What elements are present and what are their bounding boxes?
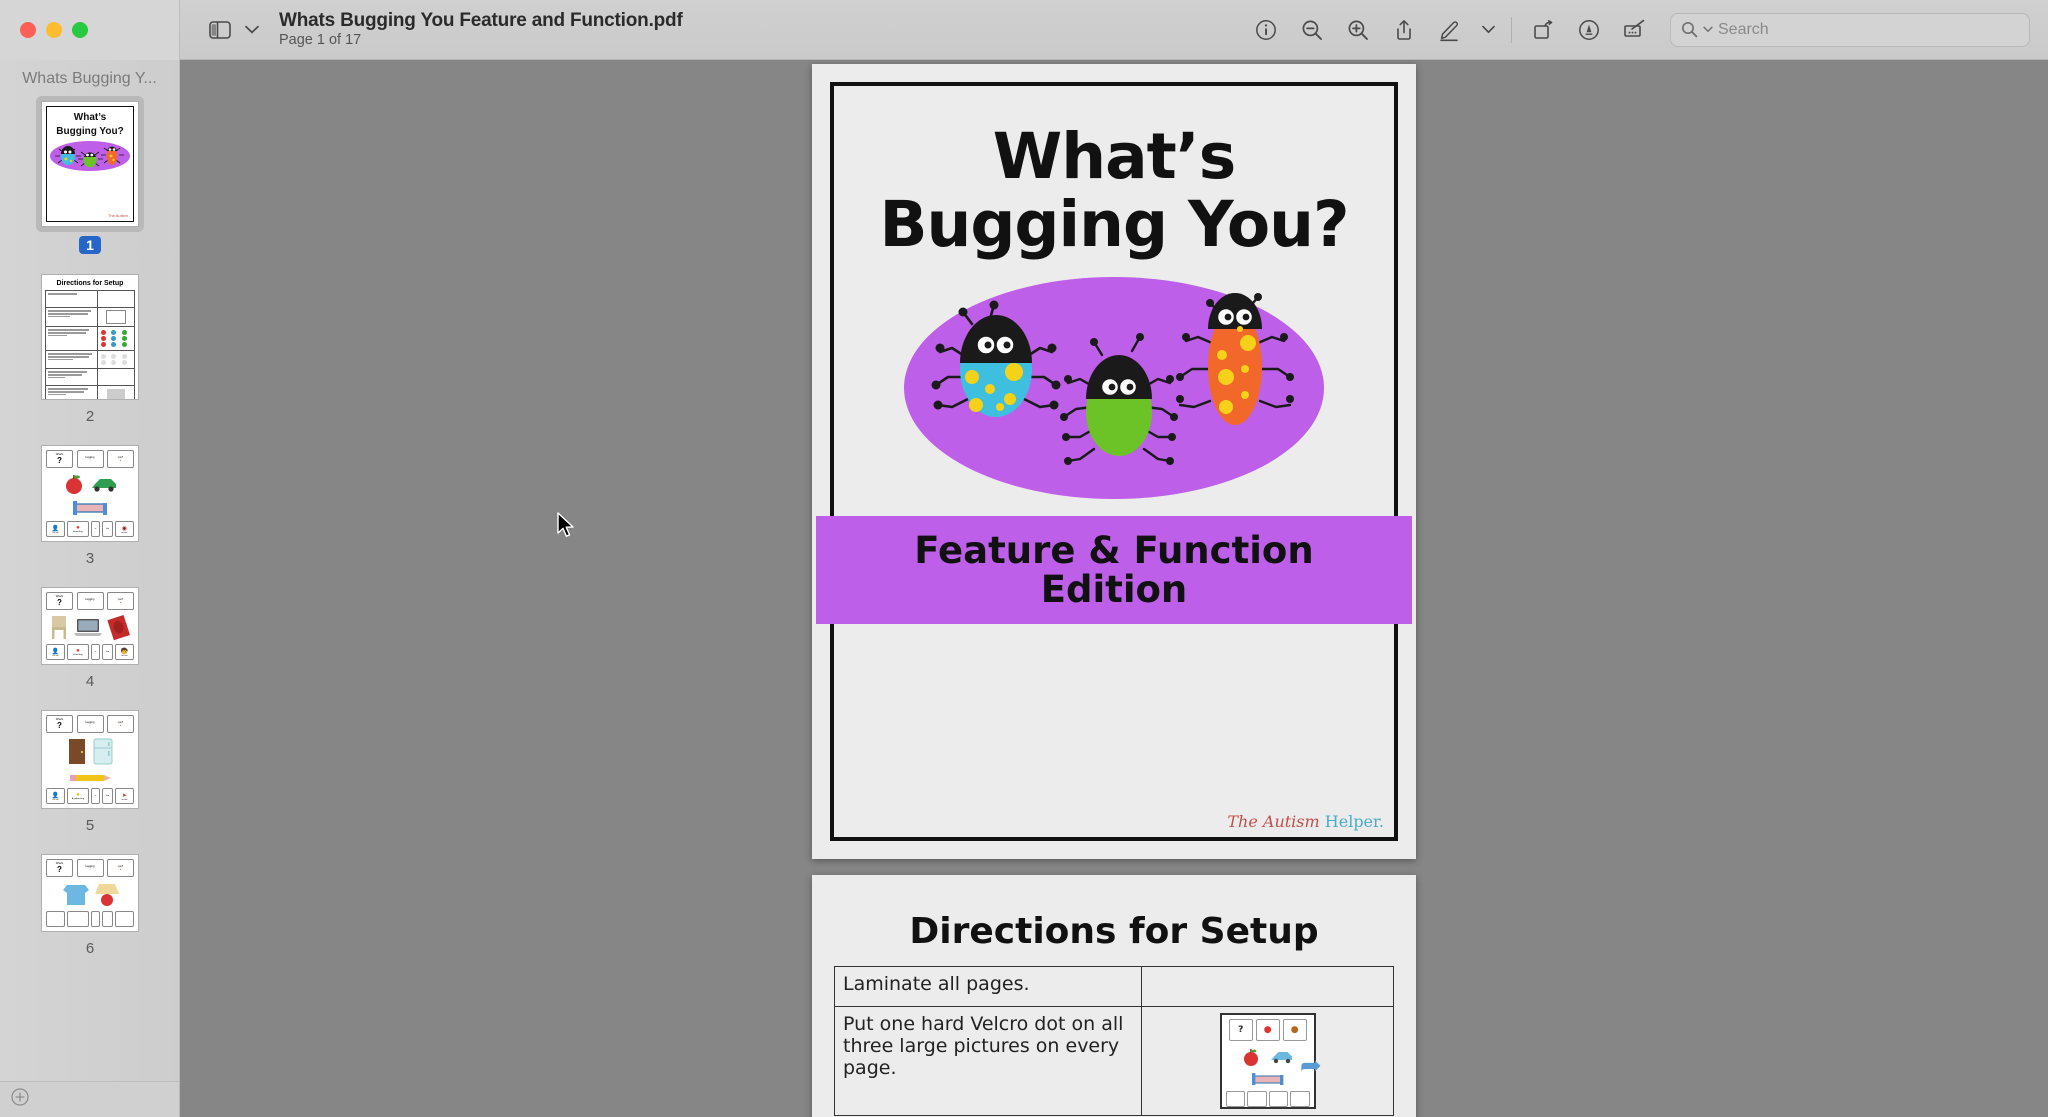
banner-line2: Edition <box>914 570 1313 609</box>
page-status: Page 1 of 17 <box>279 33 683 49</box>
pdf-page-2[interactable]: Directions for Setup Laminate all pages.… <box>812 875 1416 1117</box>
page-number: 2 <box>86 408 94 425</box>
thumbnail-list[interactable]: What’s Bugging You? <box>0 96 180 1081</box>
thumbnail-page-5[interactable]: What's? bugging• you?● 👤Oh no! ●A yellow… <box>36 705 144 843</box>
thumbnail-selection-highlight: What’s Bugging You? <box>36 96 144 232</box>
thumbnail-page-6[interactable]: What's? bugging• you?● 6 <box>36 849 144 966</box>
table-row: Laminate all pages. <box>835 967 1394 1007</box>
toolbar-divider <box>1511 17 1512 43</box>
share-icon[interactable] <box>1381 10 1427 50</box>
cover-title-line2: Bugging You? <box>834 194 1394 256</box>
thumbnail-sidebar[interactable]: Whats Bugging Y... What’s Bugging You? <box>0 60 180 1117</box>
markup-icon[interactable] <box>1427 10 1473 50</box>
banner-line1: Feature & Function <box>914 531 1313 570</box>
orange-bug <box>1176 293 1294 425</box>
thumb-title: Directions for Setup <box>45 280 135 287</box>
annotate-icon[interactable] <box>1566 10 1612 50</box>
thumb-title-2: Bugging You? <box>50 127 130 138</box>
edition-banner: Feature & Function Edition <box>816 516 1412 624</box>
sign-icon[interactable] <box>1612 10 1658 50</box>
zoom-in-icon[interactable] <box>1335 10 1381 50</box>
view-menu-chevron-down-icon[interactable] <box>245 22 259 37</box>
thumbnail-image: What's? bugging• you?● 👤Oh no! ●A red bu… <box>41 445 139 542</box>
logo-part-2: Helper. <box>1320 812 1384 831</box>
title-bar: Whats Bugging You Feature and Function.p… <box>0 0 2048 60</box>
info-icon[interactable] <box>1243 10 1289 50</box>
direction-text: Laminate all pages. <box>835 967 1142 1007</box>
page-number: 3 <box>86 550 94 567</box>
thumbnail-page-1[interactable]: What’s Bugging You? <box>36 96 144 263</box>
sidebar-toggle-icon[interactable] <box>205 18 235 42</box>
document-title: Whats Bugging You Feature and Function.p… <box>279 10 683 32</box>
search-input[interactable]: Search <box>1670 13 2030 47</box>
add-icon[interactable] <box>10 1087 30 1112</box>
direction-image-cell: ? ● ● <box>1142 1007 1394 1116</box>
titlebar-center: Whats Bugging You Feature and Function.p… <box>180 10 1243 50</box>
thumbnail-image: What's? bugging• you?● <box>41 854 139 932</box>
logo-part-1: The Autism <box>1227 812 1319 831</box>
search-icon <box>1681 21 1698 38</box>
close-button[interactable] <box>20 22 36 38</box>
thumbnail-image: What’s Bugging You? <box>41 101 139 227</box>
thumbnail-image: Directions for Setup <box>41 274 139 400</box>
cover-title-line1: What’s <box>834 126 1394 188</box>
page-number: 6 <box>86 940 94 957</box>
document-view[interactable]: What’s Bugging You? <box>180 60 2048 1117</box>
activity-card-thumbnail: ? ● ● <box>1220 1013 1316 1109</box>
markup-chevron-down-icon[interactable] <box>1473 10 1503 50</box>
page-number: 5 <box>86 817 94 834</box>
publisher-logo: The Autism Helper. <box>1227 812 1384 831</box>
setup-directions-table: Laminate all pages. Put one hard Velcro … <box>834 966 1394 1116</box>
thumbnail-page-4[interactable]: What's? bugging• you?● 👤Oh no! ●A red bu… <box>36 582 144 699</box>
rotate-icon[interactable] <box>1520 10 1566 50</box>
thumb-title: What’s <box>50 113 130 124</box>
bug-illustration <box>834 277 1394 499</box>
toolbar-buttons: Search <box>1243 10 2048 50</box>
blue-arrow-icon: ➦ <box>1300 1051 1322 1081</box>
thumb-logo: The Autism <box>50 213 130 218</box>
titlebar-left <box>0 0 180 60</box>
app-window: Whats Bugging You Feature and Function.p… <box>0 0 2048 1117</box>
page-border: What’s Bugging You? <box>830 82 1398 841</box>
thumb-oval <box>50 141 130 171</box>
page-number: 4 <box>86 673 94 690</box>
purple-oval <box>904 277 1324 499</box>
search-chevron-down-icon <box>1703 26 1713 33</box>
traffic-lights[interactable] <box>20 22 88 38</box>
zoom-out-icon[interactable] <box>1289 10 1335 50</box>
thumbnail-page-3[interactable]: What's? bugging• you?● 👤Oh no! ●A red bu… <box>36 440 144 576</box>
document-title-block: Whats Bugging You Feature and Function.p… <box>279 10 683 50</box>
search-placeholder: Search <box>1718 21 1769 39</box>
table-row: Put one hard Velcro dot on all three lar… <box>835 1007 1394 1116</box>
direction-image-cell <box>1142 967 1394 1007</box>
sidebar-footer <box>0 1081 180 1117</box>
blue-bug <box>932 301 1061 418</box>
pdf-page-1[interactable]: What’s Bugging You? <box>812 64 1416 859</box>
direction-text: Put one hard Velcro dot on all three lar… <box>835 1007 1142 1116</box>
thumbnail-page-2[interactable]: Directions for Setup <box>36 269 144 434</box>
page-number-badge: 1 <box>79 236 101 254</box>
maximize-button[interactable] <box>72 22 88 38</box>
sidebar-title: Whats Bugging Y... <box>0 60 179 94</box>
thumbnail-image: What's? bugging• you?● 👤Oh no! ●A red bu… <box>41 587 139 665</box>
minimize-button[interactable] <box>46 22 62 38</box>
green-bug <box>1060 333 1178 465</box>
page2-title: Directions for Setup <box>834 911 1394 952</box>
thumbnail-image: What's? bugging• you?● 👤Oh no! ●A yellow… <box>41 710 139 809</box>
